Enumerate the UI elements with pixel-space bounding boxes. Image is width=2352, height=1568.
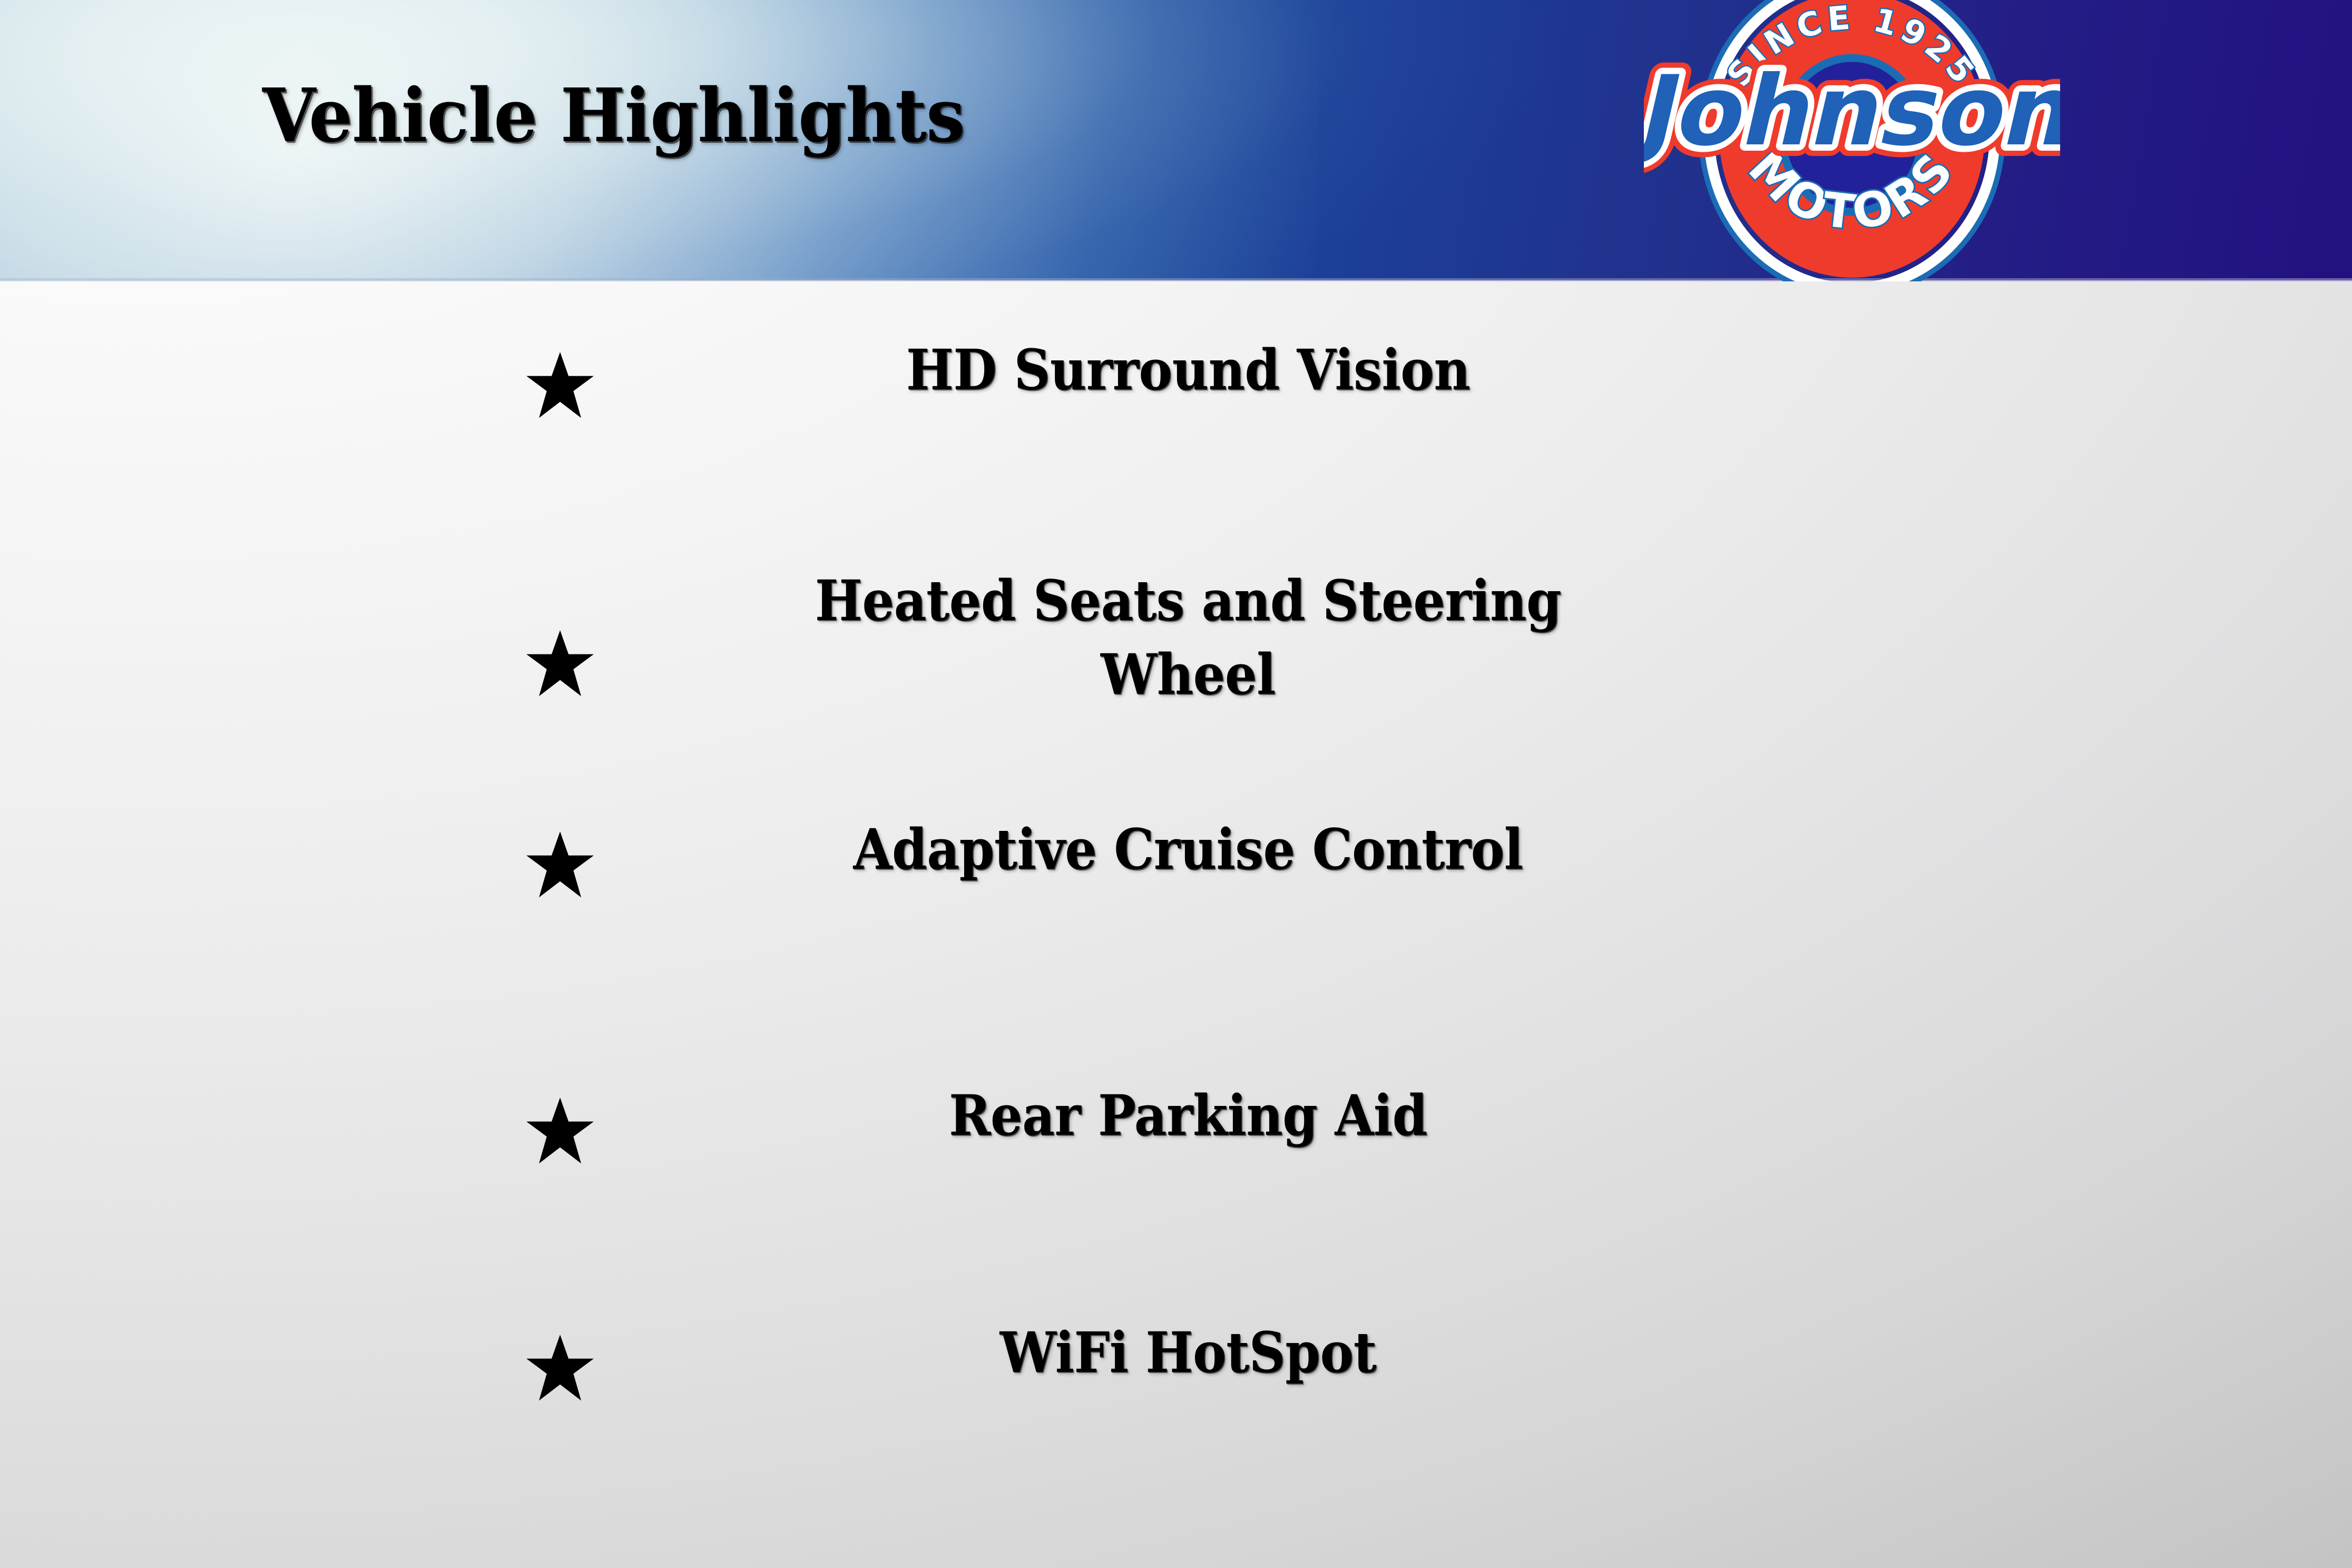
list-item: Adaptive Cruise Control: [0, 812, 2352, 918]
vehicle-highlights-list: HD Surround Vision Heated Seats and Stee…: [0, 280, 2352, 1568]
svg-text:Johnson: Johnson: [1644, 55, 2060, 167]
star-icon: [524, 829, 596, 901]
list-item: Heated Seats and Steering Wheel: [0, 575, 2352, 754]
list-item-label: Heated Seats and Steering Wheel: [778, 564, 1599, 711]
presentation-slide: Vehicle Highlights SINCE 1925 MOTORS: [0, 0, 2352, 1568]
list-item-label: WiFi HotSpot: [778, 1316, 1599, 1389]
list-item-label: Rear Parking Aid: [778, 1079, 1599, 1152]
list-item: WiFi HotSpot: [0, 1316, 2352, 1421]
star-icon: [524, 628, 596, 700]
star-icon: [524, 1095, 596, 1167]
johnson-motors-logo: SINCE 1925 MOTORS Johnson Johnson Johnso…: [1644, 0, 2060, 281]
list-item-label: Adaptive Cruise Control: [778, 812, 1599, 886]
star-icon: [524, 350, 596, 422]
page-title: Vehicle Highlights: [262, 79, 964, 153]
logo-johnson-wordmark: Johnson Johnson Johnson: [1644, 55, 2060, 167]
list-item: Rear Parking Aid: [0, 1079, 2352, 1184]
list-item-label: HD Surround Vision: [778, 333, 1599, 407]
list-item: HD Surround Vision: [0, 333, 2352, 438]
star-icon: [524, 1332, 596, 1404]
